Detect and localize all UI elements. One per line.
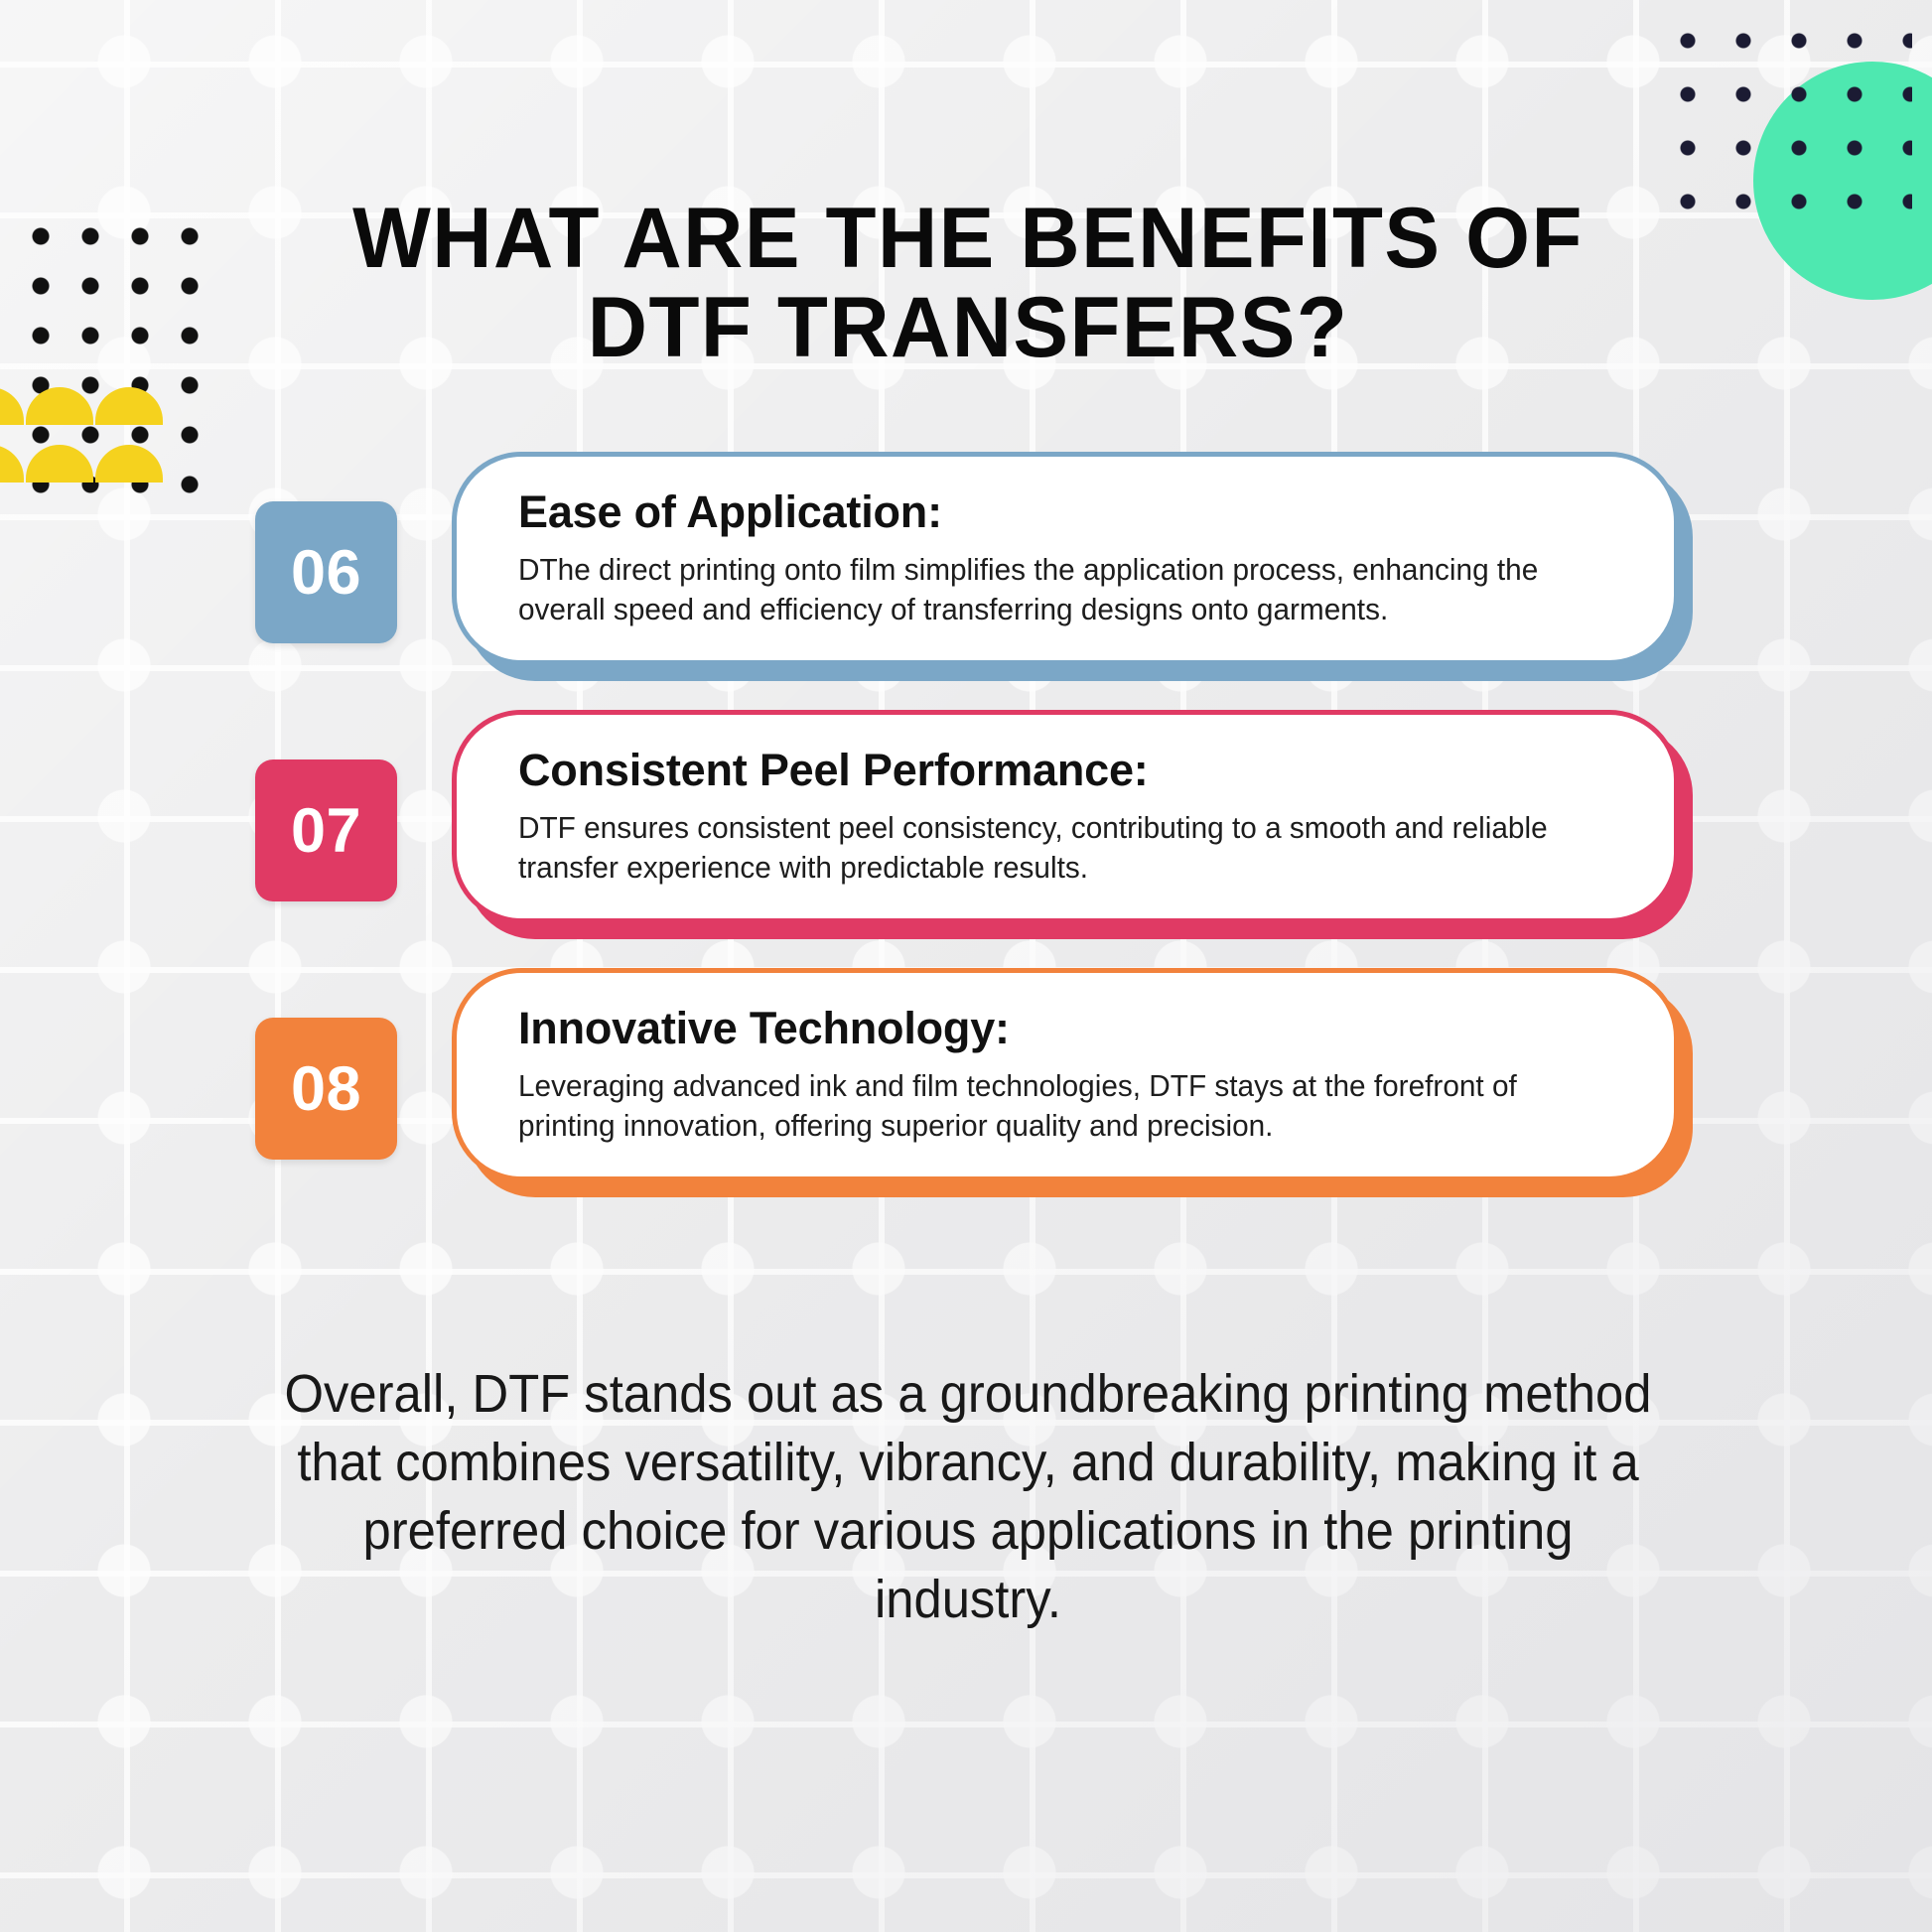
item-card-wrapper: Ease of Application: DThe direct printin… xyxy=(452,452,1679,665)
item-number-badge: 08 xyxy=(255,1018,397,1160)
item-card-wrapper: Consistent Peel Performance: DTF ensures… xyxy=(452,710,1679,923)
infographic-canvas: WHAT ARE THE BENEFITS OF DTF TRANSFERS? … xyxy=(0,0,1932,1932)
item-body: DThe direct printing onto film simplifie… xyxy=(518,550,1548,630)
semicircle-shape xyxy=(0,387,24,425)
benefits-list: 06 Ease of Application: DThe direct prin… xyxy=(0,452,1932,1226)
item-body: Leveraging advanced ink and film technol… xyxy=(518,1066,1548,1147)
semicircle-row xyxy=(0,375,165,425)
item-number-badge: 06 xyxy=(255,501,397,643)
item-title: Consistent Peel Performance: xyxy=(518,745,1614,796)
item-title: Ease of Application: xyxy=(518,486,1614,538)
list-item: 08 Innovative Technology: Leveraging adv… xyxy=(0,968,1932,1221)
item-card: Innovative Technology: Leveraging advanc… xyxy=(452,968,1679,1181)
item-card: Consistent Peel Performance: DTF ensures… xyxy=(452,710,1679,923)
conclusion-paragraph: Overall, DTF stands out as a groundbreak… xyxy=(273,1360,1664,1634)
item-body: DTF ensures consistent peel consistency,… xyxy=(518,808,1548,889)
dot-grid-top-right-decoration xyxy=(1654,0,1912,228)
page-title: WHAT ARE THE BENEFITS OF DTF TRANSFERS? xyxy=(270,194,1667,373)
item-title: Innovative Technology: xyxy=(518,1003,1614,1054)
item-card-wrapper: Innovative Technology: Leveraging advanc… xyxy=(452,968,1679,1181)
semicircle-shape xyxy=(26,387,93,425)
list-item: 06 Ease of Application: DThe direct prin… xyxy=(0,452,1932,705)
item-number-badge: 07 xyxy=(255,759,397,901)
semicircle-shape xyxy=(95,387,163,425)
item-card: Ease of Application: DThe direct printin… xyxy=(452,452,1679,665)
list-item: 07 Consistent Peel Performance: DTF ensu… xyxy=(0,710,1932,963)
